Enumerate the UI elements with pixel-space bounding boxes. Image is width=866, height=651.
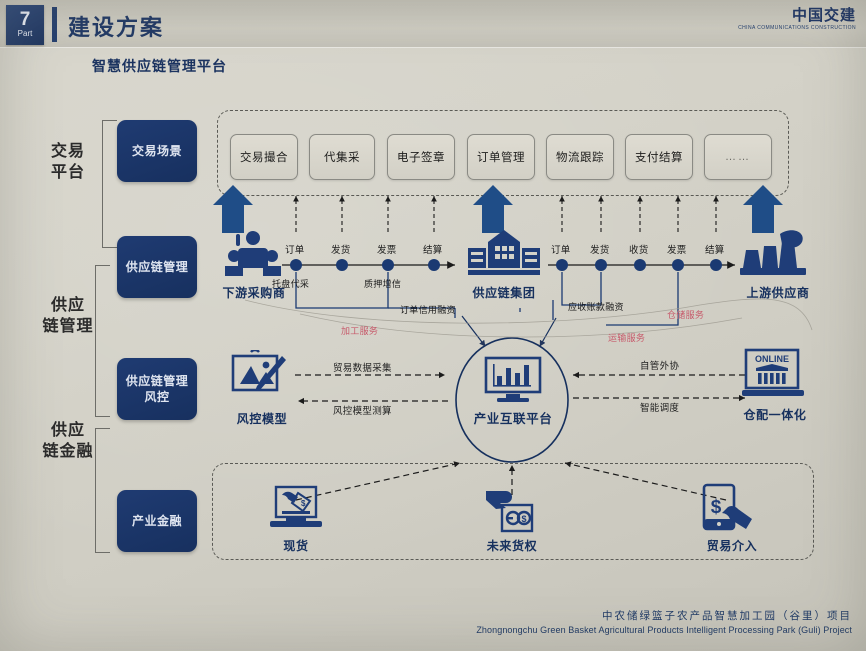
part-word: Part [18,29,33,39]
right-below-label-0: 应收账款融资 [568,300,624,313]
decor-curves [245,299,812,337]
blue-box-scm-risk[interactable]: 供应链管理 风控 [117,358,197,420]
scenario-card-6[interactable]: …… [704,134,772,180]
scenario-card-5-label: 支付结算 [635,149,683,165]
scenario-card-2-label: 电子签章 [397,149,445,165]
entity-label-warehouse: 仓配一体化 [735,406,815,423]
group-label-scf-line2: 链金融 [22,441,114,462]
group-label-scm-line2: 链管理 [22,316,114,337]
blue-box-industry-finance[interactable]: 产业金融 [117,490,197,552]
finance-item-label-0: 现货 [268,537,324,554]
group-label-trade-platform-line1: 交易 [32,141,104,162]
left-chain-nodes [290,259,440,271]
svg-text:$: $ [301,499,306,508]
scenario-card-5[interactable]: 支付结算 [625,134,693,180]
scenario-card-2[interactable]: 电子签章 [387,134,455,180]
left-below-label-1: 质押增信 [364,277,401,290]
scenario-card-1-label: 代集采 [324,149,360,165]
right-chain-nodes [556,259,722,271]
buyers-icon [222,228,284,280]
header-accent-bar [52,7,57,42]
page-title: 建设方案 [68,10,164,42]
scenario-card-0[interactable]: 交易撮合 [230,134,298,180]
left-finance-label: 订单信用融资 [400,303,456,316]
group-label-scf-line1: 供应 [22,420,114,441]
risk-model-flows [295,375,448,401]
scenario-card-3[interactable]: 订单管理 [467,134,535,180]
left-below-label-0: 托盘代采 [272,277,309,290]
scenario-card-4-label: 物流跟踪 [556,149,604,165]
right-node-label-2: 收货 [629,242,649,256]
industry-platform-icon [484,356,542,404]
risk-flow-to-center-label: 贸易数据采集 [333,360,392,374]
blue-box-scm-label: 供应链管理 [126,259,189,275]
finance-item-label-2: 贸易介入 [694,537,770,554]
scenario-card-1[interactable]: 代集采 [309,134,375,180]
right-node-label-3: 发票 [667,242,687,256]
scenario-card-4[interactable]: 物流跟踪 [546,134,614,180]
logo-chinese: 中国交建 [738,8,856,24]
footer-english: Zhongnongchu Green Basket Agricultural P… [476,624,852,637]
warehouse-flow-to-warehouse-label: 智能调度 [640,400,679,414]
logo-english: CHINA COMMUNICATIONS CONSTRUCTION [738,24,856,32]
footer-chinese: 中农储绿篮子农产品智慧加工园（谷里）项目 [476,609,852,624]
svg-text:$: $ [711,497,722,518]
warehouse-flow-to-center-label: 自管外协 [640,358,679,372]
node-up-arrows [296,196,716,232]
left-node-label-2: 发票 [377,242,397,256]
scenario-card-0-label: 交易撮合 [240,149,288,165]
scenario-card-6-label: …… [725,151,751,163]
bracket-scf [95,428,96,553]
entity-label-risk-model: 风控模型 [222,410,302,427]
blue-box-scm-risk-label-line1: 供应链管理 [126,373,189,389]
part-badge: 7 Part [6,5,44,45]
blue-box-scm[interactable]: 供应链管理 [117,236,197,298]
entity-label-group: 供应链集团 [462,284,546,301]
group-building-icon [468,228,540,278]
group-label-scm: 供应 链管理 [22,295,114,337]
entity-label-center: 产业互联平台 [468,408,558,427]
trade-intervention-icon: $ [698,483,754,535]
factory-icon [740,228,810,280]
risk-flow-to-model-label: 风控模型测算 [333,403,392,417]
part-number: 7 [20,12,31,28]
processing-service-label: 加工服务 [341,324,378,337]
bracket-scm [95,265,96,417]
header-divider [0,47,866,48]
blue-box-trade-scene-label: 交易场景 [132,143,182,159]
diagram-subtitle: 智慧供应链管理平台 [92,56,227,76]
left-node-label-0: 订单 [285,242,305,256]
group-label-scm-line1: 供应 [22,295,114,316]
risk-model-icon [230,350,292,402]
blue-box-scm-risk-label-line2: 风控 [144,389,169,405]
group-label-trade-platform: 交易 平台 [32,141,104,183]
left-node-label-3: 结算 [423,242,443,256]
right-node-label-4: 结算 [705,242,725,256]
blue-box-industry-finance-label: 产业金融 [132,513,182,529]
left-node-label-1: 发货 [331,242,351,256]
warehouse-icon-text: ONLINE [755,354,789,364]
scenario-card-3-label: 订单管理 [477,149,525,165]
right-node-label-1: 发货 [590,242,610,256]
slide-canvas: 7 Part 建设方案 中国交建 CHINA COMMUNICATIONS CO… [0,0,866,651]
right-node-label-0: 订单 [551,242,571,256]
warehouse-flows [573,375,745,398]
finance-item-label-1: 未来货权 [474,537,550,554]
warehouse-icon: ONLINE [742,348,804,404]
company-logo: 中国交建 CHINA COMMUNICATIONS CONSTRUCTION [738,8,856,32]
group-label-trade-platform-line2: 平台 [32,162,104,183]
group-label-scf: 供应 链金融 [22,420,114,462]
storage-service-label: 仓储服务 [667,308,704,321]
transport-service-label: 运输服务 [608,331,645,344]
spot-goods-icon: $ [270,485,322,533]
svg-text:$: $ [521,514,526,524]
entity-label-upstream: 上游供应商 [738,284,818,301]
blue-box-trade-scene[interactable]: 交易场景 [117,120,197,182]
footer: 中农储绿篮子农产品智慧加工园（谷里）项目 Zhongnongchu Green … [476,609,852,637]
bracket-trade-platform [102,120,103,248]
future-rights-icon: $ [484,485,540,535]
